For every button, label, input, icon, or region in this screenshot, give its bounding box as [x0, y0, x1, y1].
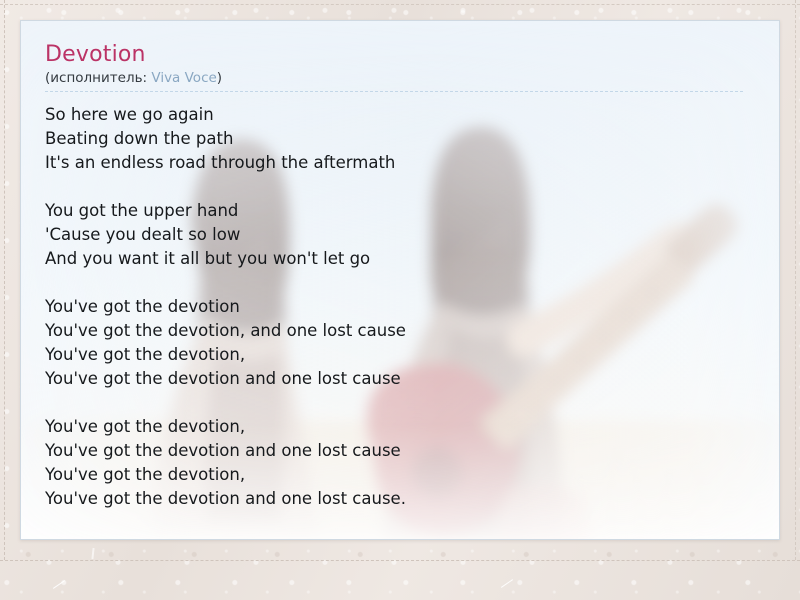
lyrics-line: You got the upper hand [45, 199, 755, 223]
artist-prefix-label: (исполнитель: [45, 70, 151, 86]
title-divider [45, 91, 743, 92]
lyrics-line: You've got the devotion [45, 295, 755, 319]
lyrics-line: So here we go again [45, 103, 755, 127]
lyrics-verse: You got the upper hand'Cause you dealt s… [45, 199, 755, 271]
lyrics-line: Beating down the path [45, 127, 755, 151]
lyrics-verse: So here we go againBeating down the path… [45, 103, 755, 175]
lyrics-line: You've got the devotion and one lost cau… [45, 439, 755, 463]
lyrics-verse: You've got the devotion,You've got the d… [45, 415, 755, 511]
page-dashed-rule-bottom [0, 560, 800, 561]
lyrics-line: 'Cause you dealt so low [45, 223, 755, 247]
page-dashed-rule-top [0, 4, 800, 5]
artist-byline: (исполнитель: Viva Voce) [45, 70, 755, 87]
lyrics-line: You've got the devotion and one lost cau… [45, 367, 755, 391]
artist-suffix-label: ) [217, 70, 222, 86]
lyrics-line: And you want it all but you won't let go [45, 247, 755, 271]
lyrics-content: Devotion (исполнитель: Viva Voce) So her… [21, 21, 779, 539]
lyrics-text: So here we go againBeating down the path… [45, 103, 755, 511]
lyrics-line: You've got the devotion and one lost cau… [45, 487, 755, 511]
lyrics-line: You've got the devotion, and one lost ca… [45, 319, 755, 343]
lyrics-verse: You've got the devotionYou've got the de… [45, 295, 755, 391]
page-title: Devotion [45, 43, 755, 66]
lyrics-line: You've got the devotion, [45, 343, 755, 367]
page-dashed-rule-right [795, 0, 796, 560]
lyrics-line: You've got the devotion, [45, 463, 755, 487]
artist-link[interactable]: Viva Voce [151, 70, 216, 86]
page-dashed-rule-left [4, 0, 5, 560]
lyrics-line: You've got the devotion, [45, 415, 755, 439]
lyrics-card: Devotion (исполнитель: Viva Voce) So her… [20, 20, 780, 540]
lyrics-line: It's an endless road through the afterma… [45, 151, 755, 175]
